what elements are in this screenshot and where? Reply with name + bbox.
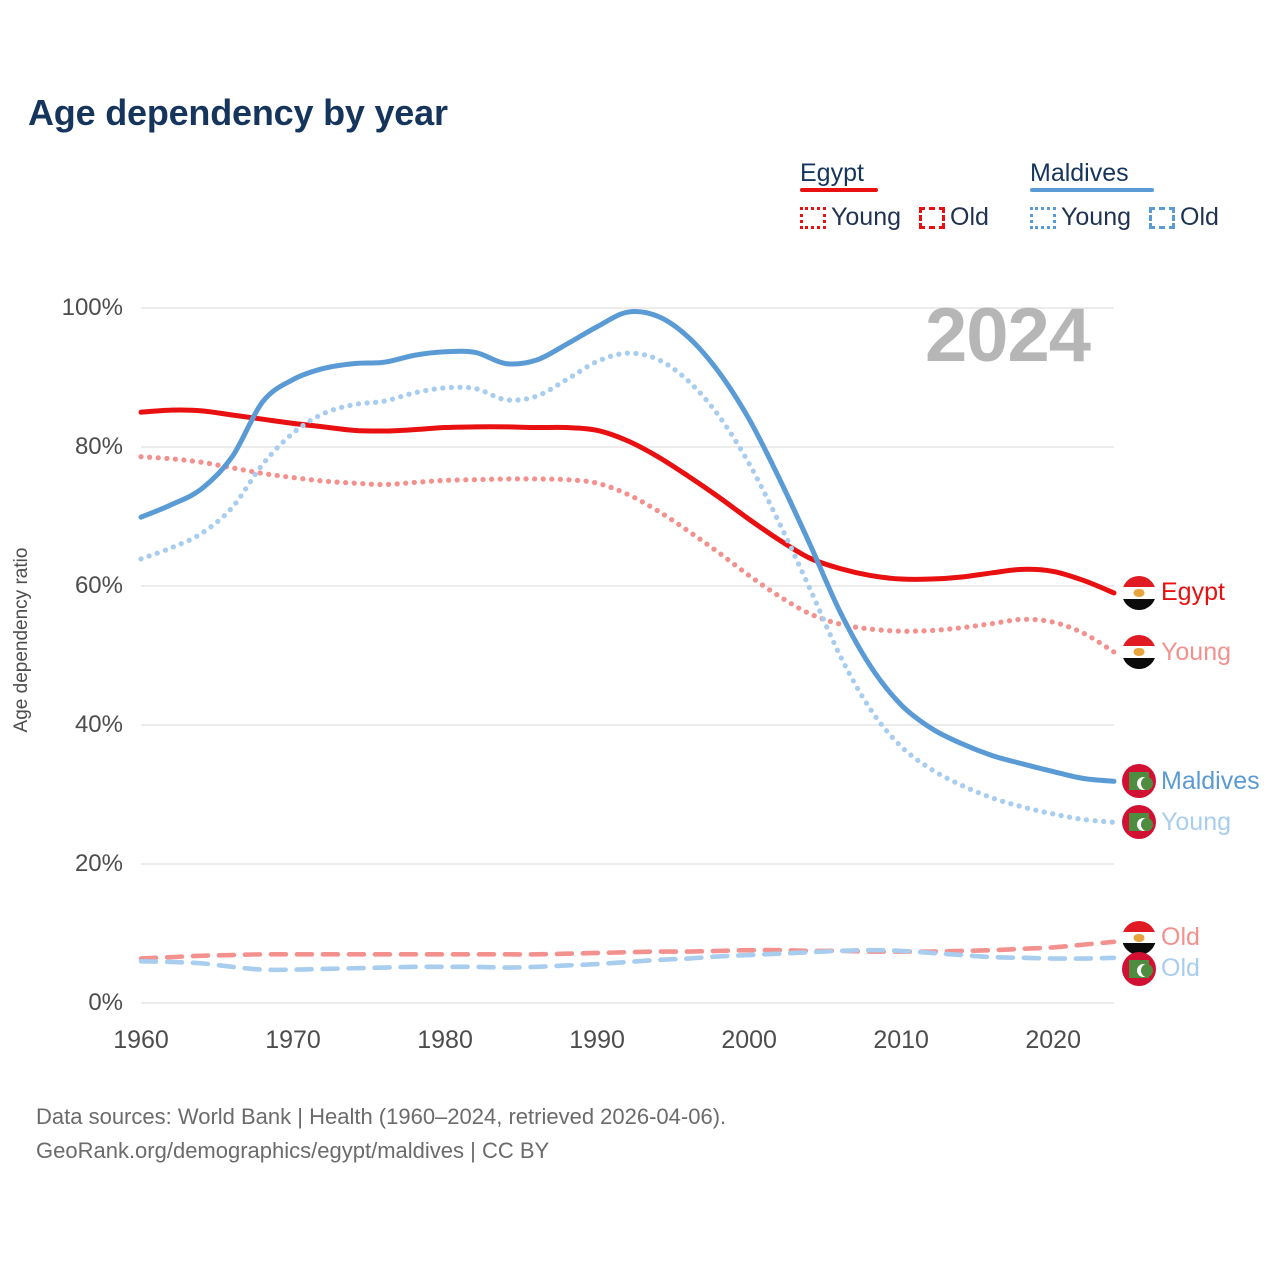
series-end-label[interactable]: Young — [1122, 805, 1231, 839]
series-end-label-text: Egypt — [1161, 578, 1225, 607]
y-axis-tick-label: 40% — [23, 711, 123, 739]
footer-data-sources: Data sources: World Bank | Health (1960–… — [36, 1100, 726, 1134]
egypt-flag-icon — [1122, 635, 1156, 669]
series-end-label[interactable]: Young — [1122, 635, 1231, 669]
series-line — [141, 457, 1114, 652]
y-axis-tick-label: 20% — [23, 850, 123, 878]
chart-plot-area: 2024 Age dependency ratio 0%20%40%60%80%… — [0, 0, 1280, 1280]
x-axis-tick-label: 1990 — [569, 1026, 625, 1055]
maldives-flag-icon — [1122, 764, 1156, 798]
footer-attribution: GeoRank.org/demographics/egypt/maldives … — [36, 1134, 726, 1168]
line-chart — [0, 0, 1280, 1280]
x-axis-tick-label: 1960 — [113, 1026, 169, 1055]
series-line — [141, 410, 1114, 593]
series-end-label-text: Maldives — [1161, 767, 1260, 796]
series-end-label[interactable]: Maldives — [1122, 764, 1260, 798]
y-axis-tick-label: 100% — [23, 294, 123, 322]
maldives-flag-icon — [1122, 952, 1156, 986]
x-axis-tick-label: 2020 — [1025, 1026, 1081, 1055]
x-axis-tick-label: 1980 — [417, 1026, 473, 1055]
y-axis-tick-label: 0% — [23, 989, 123, 1017]
x-axis-tick-label: 2010 — [873, 1026, 929, 1055]
series-line — [141, 942, 1114, 959]
series-end-label[interactable]: Old — [1122, 952, 1200, 986]
y-axis-tick-label: 80% — [23, 433, 123, 461]
series-end-label-text: Old — [1161, 954, 1200, 983]
series-end-label-text: Young — [1161, 638, 1231, 667]
series-end-label[interactable]: Egypt — [1122, 576, 1225, 610]
series-end-label[interactable]: Old — [1122, 921, 1200, 955]
series-end-label-text: Young — [1161, 808, 1231, 837]
y-axis-tick-label: 60% — [23, 572, 123, 600]
series-end-label-text: Old — [1161, 923, 1200, 952]
egypt-flag-icon — [1122, 576, 1156, 610]
egypt-flag-icon — [1122, 921, 1156, 955]
year-watermark: 2024 — [925, 292, 1090, 379]
x-axis-tick-label: 1970 — [265, 1026, 321, 1055]
x-axis-tick-label: 2000 — [721, 1026, 777, 1055]
footer: Data sources: World Bank | Health (1960–… — [36, 1100, 726, 1168]
maldives-flag-icon — [1122, 805, 1156, 839]
series-line — [141, 312, 1114, 782]
